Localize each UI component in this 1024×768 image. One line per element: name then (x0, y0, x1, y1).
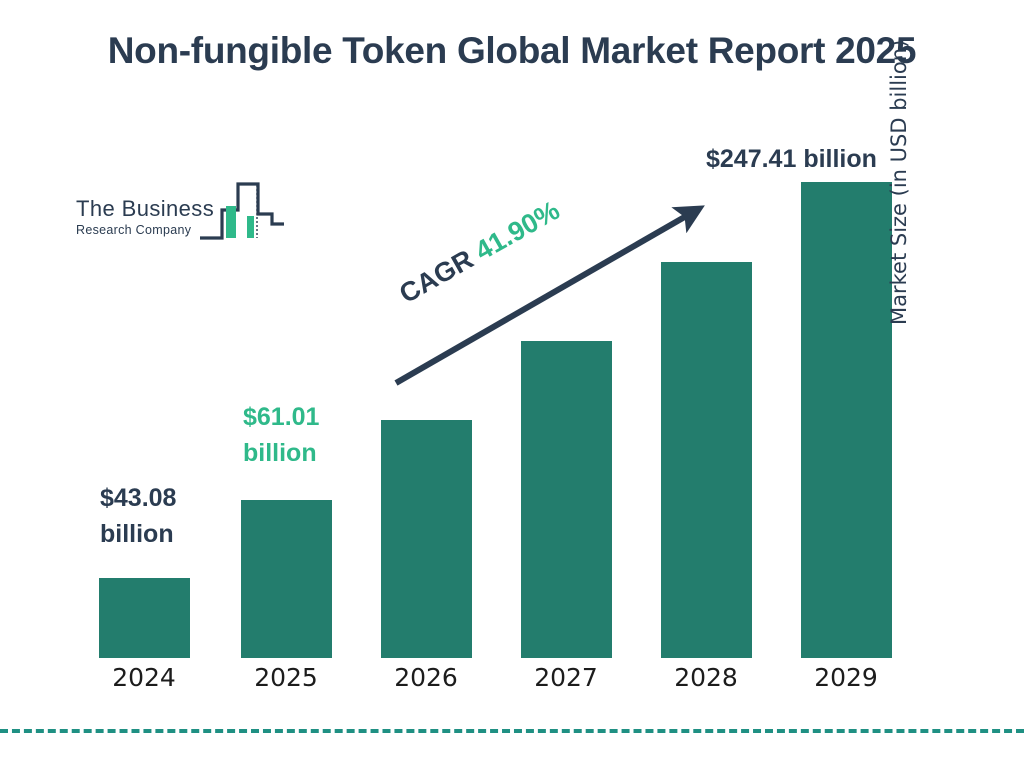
x-axis-label-2025: 2025 (231, 663, 341, 692)
value-callout-2024: $43.08 billion (100, 481, 250, 552)
plot-area: CAGR 41.90% (0, 0, 1024, 768)
x-axis-label-2028: 2028 (651, 663, 761, 692)
value-callout-2024-line1: $43.08 (100, 481, 250, 517)
value-callout-2025-line2: billion (243, 436, 393, 472)
x-axis-label-2029: 2029 (791, 663, 901, 692)
value-callout-2024-line2: billion (100, 517, 250, 553)
x-axis-label-2026: 2026 (371, 663, 481, 692)
value-callout-2025-line1: $61.01 (243, 400, 393, 436)
chart-canvas: Non-fungible Token Global Market Report … (0, 0, 1024, 768)
value-callout-2029: $247.41 billion (706, 142, 966, 178)
cagr-arrow-icon (0, 0, 1024, 768)
x-axis-label-2024: 2024 (89, 663, 199, 692)
value-callout-2025: $61.01 billion (243, 400, 393, 471)
y-axis-title: Market Size (in USD billion) (887, 5, 911, 325)
x-axis-label-2027: 2027 (511, 663, 621, 692)
footer-divider (0, 729, 1024, 733)
